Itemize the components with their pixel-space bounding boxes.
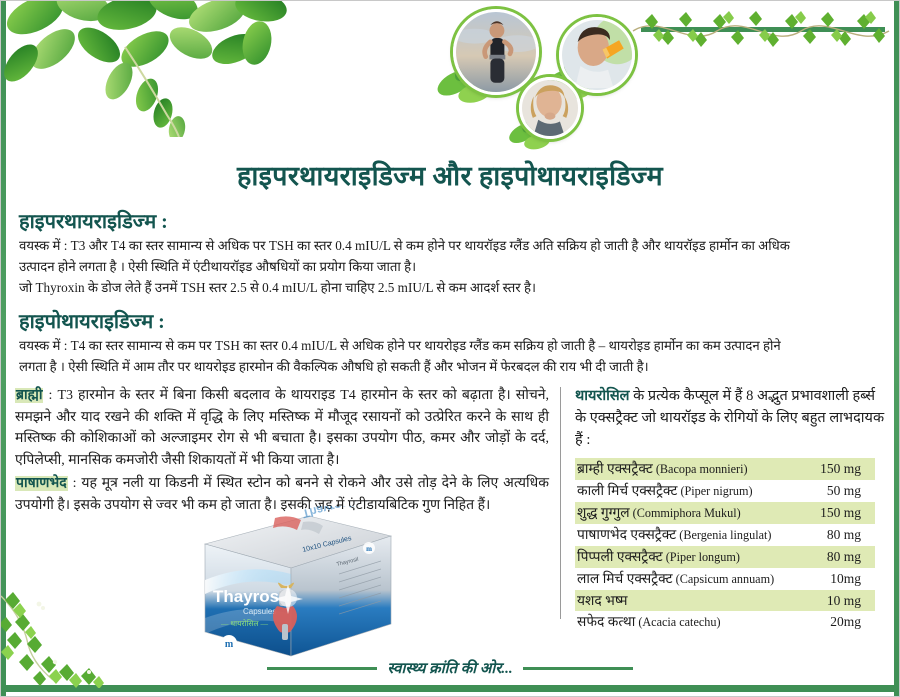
ingredient-row: सफेद कत्था (Acacia catechu)20mg	[575, 611, 875, 633]
product-sub-text: Capsules	[243, 607, 276, 616]
ingredient-name-latin: (Bergenia lingulat)	[676, 528, 771, 542]
hyper-line-1: वयस्क में : T3 और T4 का स्तर सामान्य से …	[19, 235, 883, 256]
ingredient-name-hindi: लाल मिर्च एक्सट्रैक्ट	[577, 571, 673, 586]
ingredient-row: यशद भष्म10 mg	[575, 590, 875, 611]
product-box-image: Thayrosil Capsules — थायरोसिल —	[187, 506, 405, 664]
product-hindi-text: — थायरोसिल —	[220, 619, 268, 628]
poster-page: हाइपरथायराइडिज्म और हाइपोथायराइडिज्म हाइ…	[0, 0, 900, 697]
hyper-line-2: उत्पादन होने लगता है । ऐसी स्थिति में एं…	[19, 256, 883, 277]
footer-rule-right	[523, 667, 633, 670]
ingredient-row: शुद्ध गुग्गुल (Commiphora Mukul)150 mg	[575, 502, 875, 524]
svg-text:Thayrosil: Thayrosil	[301, 506, 356, 521]
ingredient-name-cell: ब्राम्ही एक्सट्रैक्ट (Bacopa monnieri)	[575, 458, 809, 480]
ingredient-name-hindi: सफेद कत्था	[577, 614, 635, 629]
section-heading-hyperthyroidism: हाइपरथायराइडिज्म :	[19, 207, 168, 234]
ingredient-row: ब्राम्ही एक्सट्रैक्ट (Bacopa monnieri)15…	[575, 458, 875, 480]
hyper-line-3: जो Thyroxin के डोज लेते हैं उनमें TSH स्…	[19, 277, 883, 298]
photo-woman-throat-check	[519, 77, 581, 139]
herb-description-column: ब्राह्मी : T3 हारमोन के स्तर में बिना कि…	[15, 385, 549, 518]
ingredient-name-cell: यशद भष्म	[575, 590, 809, 611]
ingredient-name-hindi: ब्राम्ही एक्सट्रैक्ट	[577, 461, 653, 476]
frame-border-bottom	[5, 685, 895, 692]
ingredient-name-cell: सफेद कत्था (Acacia catechu)	[575, 611, 809, 633]
herb-separator: :	[68, 476, 82, 491]
leaf-cluster-top-left-icon	[0, 0, 325, 137]
footer-tagline-bar: स्वास्थ्य क्रांति की ओर...	[1, 658, 899, 678]
hypo-line-1: वयस्क में : T4 का स्तर सामान्य से कम पर …	[19, 335, 883, 356]
ingredient-amount-cell: 50 mg	[809, 480, 875, 502]
ingredients-column: थायरोसिल के प्रत्येक कैप्सूल में हैं 8 अ…	[575, 385, 887, 633]
lower-content-area: ब्राह्मी : T3 हारमोन के स्तर में बिना कि…	[15, 385, 887, 635]
ingredients-intro: थायरोसिल के प्रत्येक कैप्सूल में हैं 8 अ…	[575, 385, 887, 451]
ingredient-name-hindi: पाषाणभेद एक्सट्रैक्ट	[577, 527, 676, 542]
herb-separator: :	[43, 388, 57, 403]
section-heading-hypothyroidism: हाइपोथायराइडिज्म :	[19, 307, 165, 334]
ingredient-amount-cell: 10mg	[809, 568, 875, 590]
section-body-hypothyroidism: वयस्क में : T4 का स्तर सामान्य से कम पर …	[19, 335, 883, 377]
product-brand-text: Thayrosil	[213, 587, 289, 606]
ingredient-row: पाषाणभेद एक्सट्रैक्ट (Bergenia lingulat)…	[575, 524, 875, 546]
ingredient-name-cell: पाषाणभेद एक्सट्रैक्ट (Bergenia lingulat)	[575, 524, 809, 546]
photo-woman-drinking-juice	[559, 17, 635, 93]
ingredients-table: ब्राम्ही एक्सट्रैक्ट (Bacopa monnieri)15…	[575, 458, 875, 633]
header-photo-group	[431, 3, 641, 145]
ingredient-name-latin: (Piper nigrum)	[677, 484, 752, 498]
herb-name-pashanbhed: पाषाणभेद	[15, 476, 68, 491]
hypo-line-2: लगता है । ऐसी स्थिति में आम तौर पर थायरो…	[19, 356, 883, 377]
ingredient-amount-cell: 150 mg	[809, 502, 875, 524]
ingredient-amount-cell: 80 mg	[809, 524, 875, 546]
ingredient-row: लाल मिर्च एक्सट्रैक्ट (Capsicum annuam)1…	[575, 568, 875, 590]
ingredient-name-hindi: यशद भष्म	[577, 593, 627, 608]
frame-border-right	[894, 1, 899, 696]
footer-rule-left	[267, 667, 377, 670]
vine-rule-right	[641, 27, 885, 32]
brand-name-hindi: थायरोसिल	[575, 388, 630, 404]
ingredient-name-cell: पिप्पली एक्सट्रैक्ट (Piper longum)	[575, 546, 809, 568]
page-title: हाइपरथायराइडिज्म और हाइपोथायराइडिज्म	[1, 156, 899, 193]
frame-border-left	[1, 1, 6, 696]
ingredient-row: काली मिर्च एक्सट्रैक्ट (Piper nigrum)50 …	[575, 480, 875, 502]
section-body-hyperthyroidism: वयस्क में : T3 और T4 का स्तर सामान्य से …	[19, 235, 883, 298]
ingredient-amount-cell: 80 mg	[809, 546, 875, 568]
ingredient-name-cell: काली मिर्च एक्सट्रैक्ट (Piper nigrum)	[575, 480, 809, 502]
ingredient-name-latin: (Bacopa monnieri)	[653, 462, 748, 476]
ingredient-name-hindi: काली मिर्च एक्सट्रैक्ट	[577, 483, 677, 498]
column-divider	[560, 387, 561, 619]
ingredient-name-latin: (Piper longum)	[663, 550, 740, 564]
ingredient-name-latin: (Acacia catechu)	[635, 615, 720, 629]
ingredient-amount-cell: 10 mg	[809, 590, 875, 611]
herb-paragraph-brahmi: ब्राह्मी : T3 हारमोन के स्तर में बिना कि…	[15, 385, 549, 471]
ingredient-amount-cell: 20mg	[809, 611, 875, 633]
ingredient-name-cell: लाल मिर्च एक्सट्रैक्ट (Capsicum annuam)	[575, 568, 809, 590]
ingredient-name-cell: शुद्ध गुग्गुल (Commiphora Mukul)	[575, 502, 809, 524]
herb-text-brahmi: T3 हारमोन के स्तर में बिना किसी बदलाव के…	[15, 388, 549, 468]
ingredient-name-latin: (Capsicum annuam)	[673, 572, 775, 586]
herb-name-brahmi: ब्राह्मी	[15, 388, 43, 403]
photo-jogging-woman	[453, 9, 539, 95]
ingredient-name-latin: (Commiphora Mukul)	[630, 506, 741, 520]
ingredient-row: पिप्पली एक्सट्रैक्ट (Piper longum)80 mg	[575, 546, 875, 568]
footer-tagline: स्वास्थ्य क्रांति की ओर...	[387, 658, 512, 678]
ingredient-amount-cell: 150 mg	[809, 458, 875, 480]
svg-text:m: m	[366, 545, 372, 553]
ingredient-name-hindi: पिप्पली एक्सट्रैक्ट	[577, 549, 663, 564]
svg-text:m: m	[225, 639, 234, 650]
ingredient-name-hindi: शुद्ध गुग्गुल	[577, 505, 630, 520]
